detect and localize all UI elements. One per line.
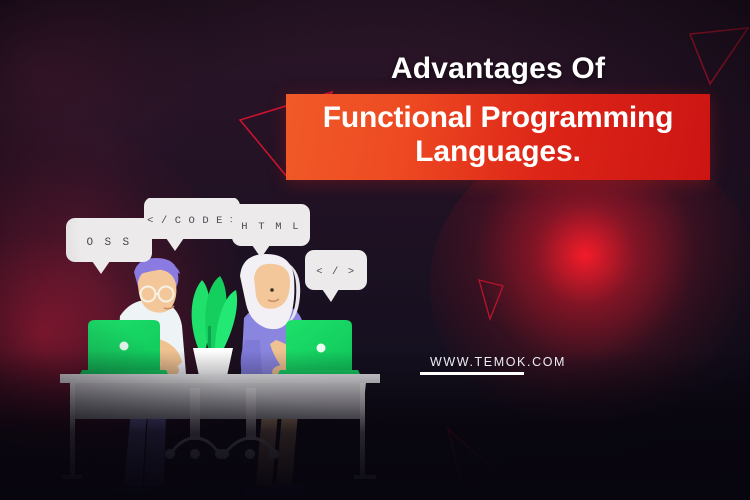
headline-block: Advantages Of Functional Programming Lan…	[286, 52, 710, 180]
site-url-underline	[420, 372, 524, 375]
headline-highlight-band: Functional Programming Languages.	[286, 94, 710, 180]
site-url-text: WWW.TEMOK.COM	[418, 355, 578, 369]
banner-canvas: O S S < / C O D E > H T M L < / > Advant…	[0, 0, 750, 500]
bottom-fade	[0, 350, 750, 500]
site-watermark: WWW.TEMOK.COM	[418, 355, 578, 375]
headline-line-top: Advantages Of	[286, 52, 710, 86]
headline-band-line-1: Functional Programming	[292, 101, 704, 135]
headline-band-line-2: Languages.	[292, 135, 704, 169]
